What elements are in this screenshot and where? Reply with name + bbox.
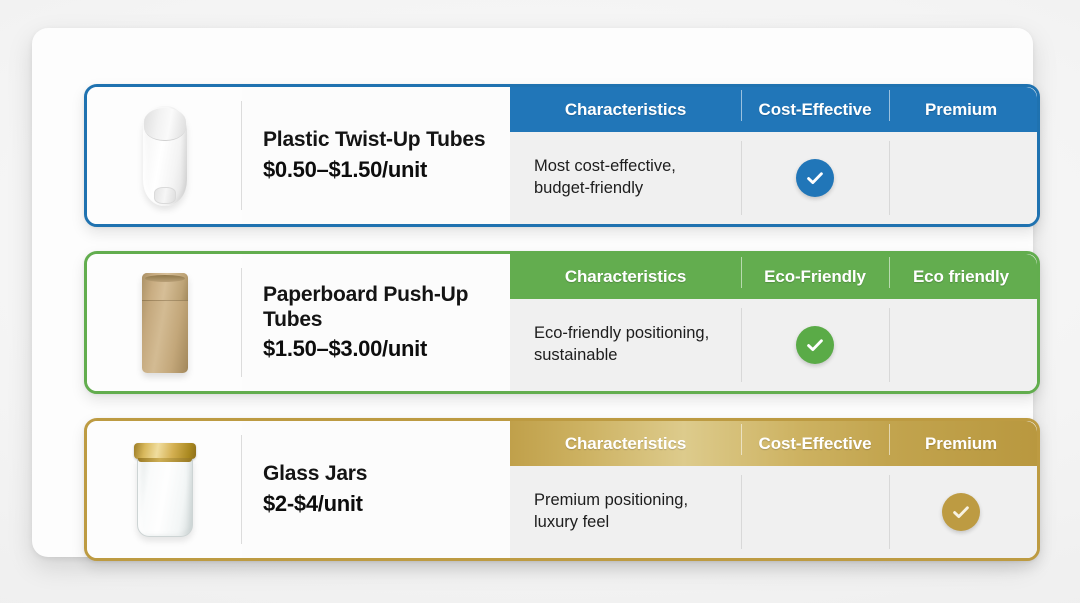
characteristics-cell: Eco-friendly positioning, sustainable bbox=[510, 308, 741, 382]
table-body-row: Premium positioning, luxury feel bbox=[510, 466, 1037, 558]
product-info-cell: Plastic Twist-Up Tubes $0.50–$1.50/unit bbox=[242, 87, 510, 224]
product-price: $1.50–$3.00/unit bbox=[263, 336, 496, 362]
column-header-cost-effective: Cost-Effective bbox=[741, 434, 889, 454]
plastic-twist-up-tube-image bbox=[143, 106, 187, 206]
check-circle-icon bbox=[942, 493, 980, 531]
characteristics-text: Most cost-effective, budget-friendly bbox=[534, 156, 729, 200]
characteristics-text: Premium positioning, luxury feel bbox=[534, 490, 729, 534]
product-info-cell: Paperboard Push-Up Tubes $1.50–$3.00/uni… bbox=[242, 254, 510, 391]
table-header-row: Characteristics Cost-Effective Premium bbox=[510, 421, 1037, 466]
product-name: Paperboard Push-Up Tubes bbox=[263, 283, 496, 332]
column-header-premium: Premium bbox=[889, 100, 1033, 120]
attribute-table: Characteristics Eco-Friendly Eco friendl… bbox=[510, 254, 1037, 391]
eco-friendly-alt-cell bbox=[889, 308, 1033, 382]
comparison-panel: Plastic Twist-Up Tubes $0.50–$1.50/unit … bbox=[32, 28, 1033, 557]
table-body-row: Most cost-effective, budget-friendly bbox=[510, 132, 1037, 224]
paperboard-push-up-tube-image bbox=[142, 273, 188, 373]
attribute-table: Characteristics Cost-Effective Premium P… bbox=[510, 421, 1037, 558]
characteristics-cell: Most cost-effective, budget-friendly bbox=[510, 141, 741, 215]
premium-cell bbox=[889, 475, 1033, 549]
cost-effective-cell bbox=[741, 141, 889, 215]
column-header-eco-friendly: Eco-Friendly bbox=[741, 267, 889, 287]
attribute-table: Characteristics Cost-Effective Premium M… bbox=[510, 87, 1037, 224]
product-price: $0.50–$1.50/unit bbox=[263, 157, 496, 183]
comparison-card-paperboard-push-up-tubes[interactable]: Paperboard Push-Up Tubes $1.50–$3.00/uni… bbox=[84, 251, 1040, 394]
product-name: Plastic Twist-Up Tubes bbox=[263, 128, 496, 152]
check-circle-icon bbox=[796, 159, 834, 197]
column-header-premium: Premium bbox=[889, 434, 1033, 454]
product-name: Glass Jars bbox=[263, 462, 496, 486]
product-image-cell bbox=[87, 254, 242, 391]
column-header-cost-effective: Cost-Effective bbox=[741, 100, 889, 120]
premium-cell bbox=[889, 141, 1033, 215]
table-header-row: Characteristics Cost-Effective Premium bbox=[510, 87, 1037, 132]
table-body-row: Eco-friendly positioning, sustainable bbox=[510, 299, 1037, 391]
column-header-characteristics: Characteristics bbox=[510, 434, 741, 454]
column-header-characteristics: Characteristics bbox=[510, 100, 741, 120]
product-info-cell: Glass Jars $2-$4/unit bbox=[242, 421, 510, 558]
column-header-eco-friendly-alt: Eco friendly bbox=[889, 267, 1033, 287]
eco-friendly-cell bbox=[741, 308, 889, 382]
table-header-row: Characteristics Eco-Friendly Eco friendl… bbox=[510, 254, 1037, 299]
comparison-card-plastic-twist-up-tubes[interactable]: Plastic Twist-Up Tubes $0.50–$1.50/unit … bbox=[84, 84, 1040, 227]
column-header-characteristics: Characteristics bbox=[510, 267, 741, 287]
glass-jar-image bbox=[137, 443, 193, 537]
product-image-cell bbox=[87, 87, 242, 224]
characteristics-cell: Premium positioning, luxury feel bbox=[510, 475, 741, 549]
product-image-cell bbox=[87, 421, 242, 558]
cost-effective-cell bbox=[741, 475, 889, 549]
check-circle-icon bbox=[796, 326, 834, 364]
comparison-card-glass-jars[interactable]: Glass Jars $2-$4/unit Characteristics Co… bbox=[84, 418, 1040, 561]
product-price: $2-$4/unit bbox=[263, 491, 496, 517]
characteristics-text: Eco-friendly positioning, sustainable bbox=[534, 323, 729, 367]
